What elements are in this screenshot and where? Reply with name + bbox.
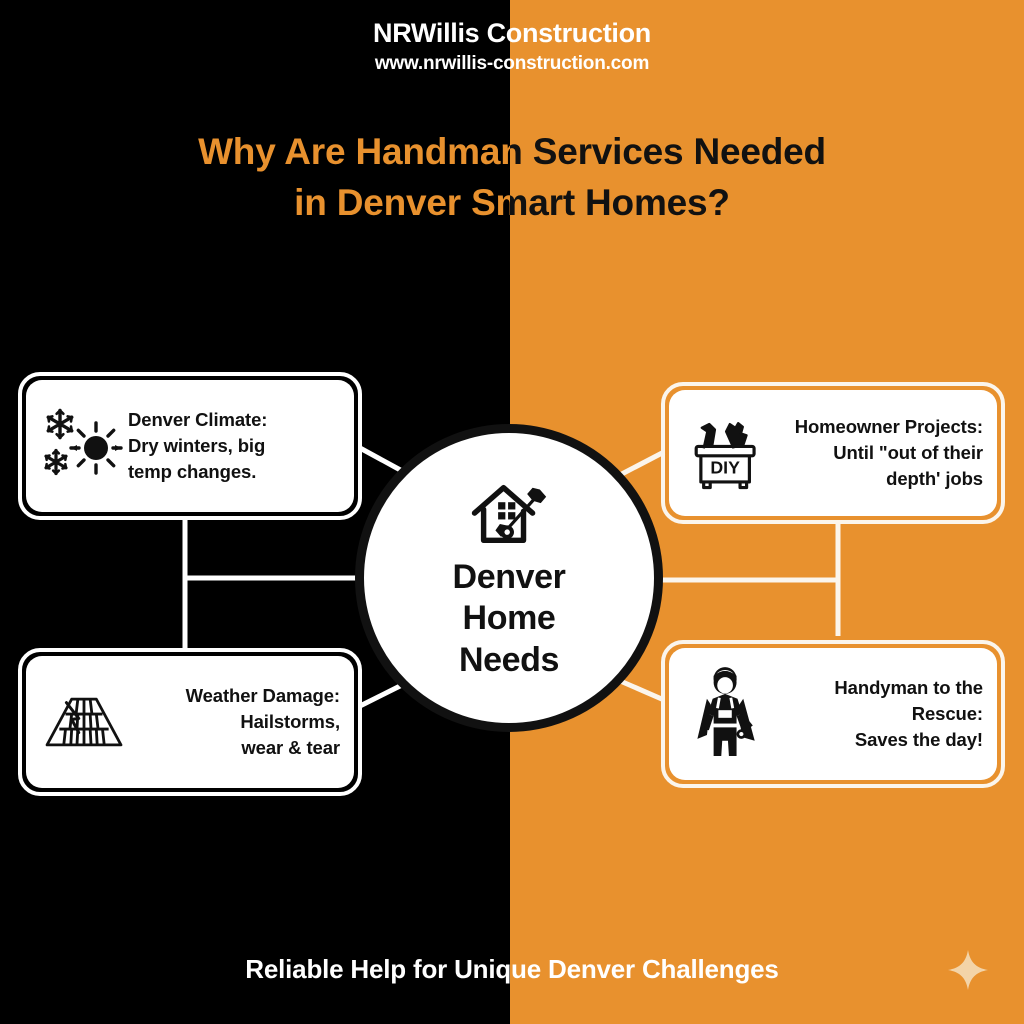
- card-heading-homeowner-projects: Homeowner Projects:: [771, 414, 983, 440]
- house-wrench-icon: [463, 475, 555, 553]
- card-line2-denver-climate: Dry winters, big: [128, 433, 340, 459]
- connector-right-top-diagonal: [618, 452, 664, 476]
- card-handyman-rescue[interactable]: Handyman to the Rescue: Saves the day!: [669, 648, 997, 780]
- card-heading-handyman-rescue: Handyman to the Rescue:: [771, 675, 983, 728]
- card-text-homeowner-projects: Homeowner Projects: Until "out of their …: [771, 414, 983, 493]
- card-denver-climate[interactable]: Denver Climate: Dry winters, big temp ch…: [26, 380, 354, 512]
- brand-name: NRWillis Construction: [0, 18, 1024, 49]
- card-weather-damage[interactable]: Weather Damage: Hailstorms, wear & tear: [26, 656, 354, 788]
- card-homeowner-projects[interactable]: DIY Homeowner Projects: Until "out of th…: [669, 390, 997, 516]
- card-text-handyman-rescue: Handyman to the Rescue: Saves the day!: [771, 675, 983, 754]
- svg-text:DIY: DIY: [710, 458, 740, 478]
- header: NRWillis Construction www.nrwillis-const…: [0, 18, 1024, 75]
- card-heading-weather-damage: Weather Damage:: [128, 683, 340, 709]
- brand-website: www.nrwillis-construction.com: [0, 53, 1024, 75]
- card-line3-weather-damage: wear & tear: [128, 735, 340, 761]
- card-heading-denver-climate: Denver Climate:: [128, 407, 340, 433]
- page-title: Why Are Handman Services Needed Why Are …: [0, 126, 1024, 228]
- hub-label-line-3: Needs: [453, 640, 566, 681]
- hub-label-line-2: Home: [453, 598, 566, 639]
- superhero-handyman-icon: [683, 670, 771, 758]
- hub-label: Denver Home Needs: [453, 557, 566, 681]
- hub-denver-home-needs[interactable]: Denver Home Needs: [355, 424, 663, 732]
- infographic-canvas: NRWillis Construction www.nrwillis-const…: [0, 0, 1024, 1024]
- card-line3-homeowner-projects: depth' jobs: [771, 466, 983, 492]
- hail-roof-icon: [40, 678, 128, 766]
- card-text-weather-damage: Weather Damage: Hailstorms, wear & tear: [128, 683, 340, 762]
- page-title-line-2-dark: in Denver Smart Homes?: [0, 177, 1024, 228]
- page-title-line-1-dark: Why Are Handman Services Needed: [0, 126, 1024, 177]
- page-title-line-1: Why Are Handman Services Needed Why Are …: [0, 126, 1024, 177]
- page-title-line-2: in Denver Smart Homes? in Denver Smart H…: [0, 177, 1024, 228]
- card-line3-denver-climate: temp changes.: [128, 459, 340, 485]
- connector-right-bottom-diagonal: [618, 680, 664, 700]
- diy-toolbox-icon: DIY: [683, 409, 771, 497]
- card-text-denver-climate: Denver Climate: Dry winters, big temp ch…: [128, 407, 340, 486]
- hub-label-line-1: Denver: [453, 557, 566, 598]
- connector-left-bottom-diagonal: [360, 684, 404, 706]
- sparkle-icon: [946, 948, 990, 992]
- footer-tagline: Reliable Help for Unique Denver Challeng…: [0, 954, 1024, 985]
- card-line2-handyman-rescue: Saves the day!: [771, 727, 983, 753]
- connector-left-top-diagonal: [360, 448, 404, 472]
- card-line2-homeowner-projects: Until "out of their: [771, 440, 983, 466]
- snowflake-sun-icon: [40, 402, 128, 490]
- card-line2-weather-damage: Hailstorms,: [128, 709, 340, 735]
